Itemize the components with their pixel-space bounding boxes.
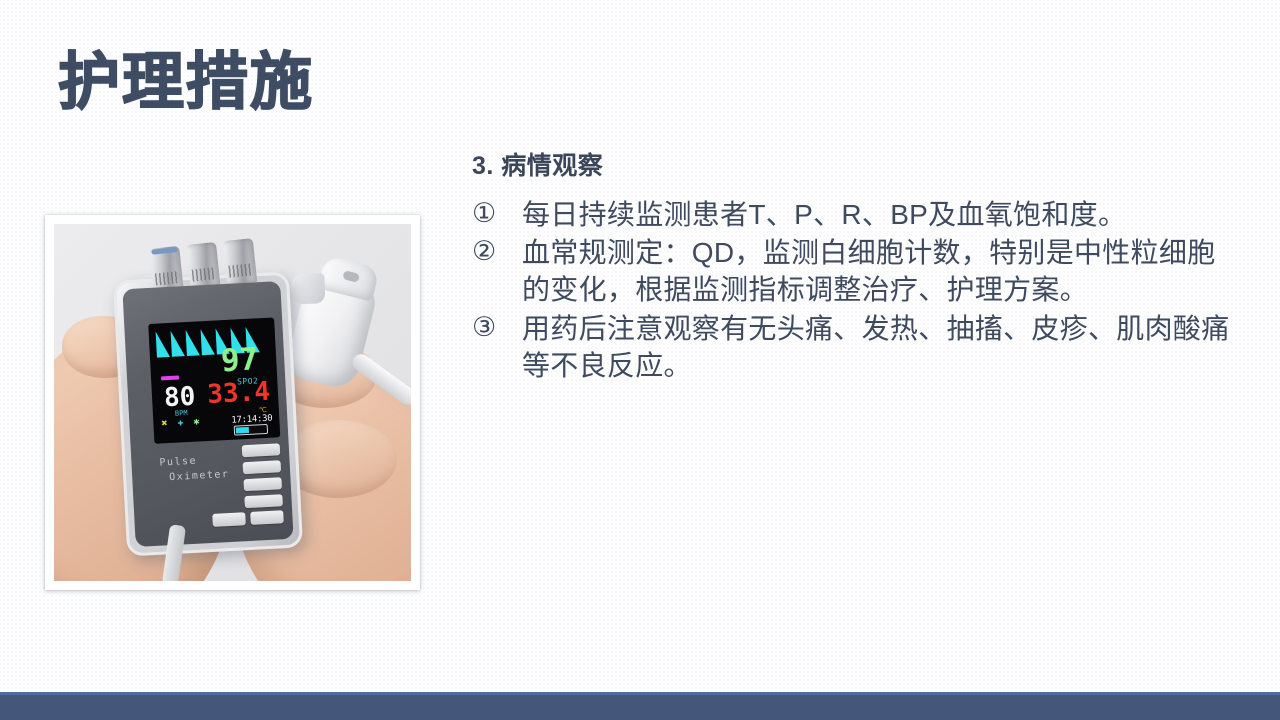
list-item-text: 血常规测定：QD，监测白细胞计数，特别是中性粒细胞的变化，根据监测指标调整治疗、…: [522, 234, 1232, 308]
slide-canvas: 护理措施: [0, 0, 1280, 720]
footer-bar: [0, 692, 1280, 720]
device-key-3: [243, 477, 282, 491]
list-marker: ②: [472, 234, 522, 308]
wave-spike: [171, 330, 185, 357]
pulse-oximeter-device: 97 SPO2 80 BPM 33.4 ℃ ✖ ✚ ✱ 17:14:30: [113, 272, 303, 557]
wave-spike: [156, 331, 170, 358]
pulse-bar-indicator: [161, 375, 179, 380]
device-keypad-bottom: [212, 510, 284, 527]
oximeter-photo: 97 SPO2 80 BPM 33.4 ℃ ✖ ✚ ✱ 17:14:30: [54, 224, 411, 581]
device-brand-label: Pulse Oximeter: [159, 452, 230, 486]
device-key-2: [243, 460, 282, 474]
device-front-panel: 97 SPO2 80 BPM 33.4 ℃ ✖ ✚ ✱ 17:14:30: [122, 281, 293, 547]
connector-cap-1: [151, 247, 177, 255]
list-item: ② 血常规测定：QD，监测白细胞计数，特别是中性粒细胞的变化，根据监测指标调整治…: [472, 234, 1232, 308]
list-item-text: 用药后注意观察有无头痛、发热、抽搐、皮疹、肌肉酸痛等不良反应。: [522, 310, 1232, 384]
screen-status-glyphs: ✖ ✚ ✱: [161, 416, 200, 429]
device-keypad: [242, 443, 283, 508]
spo2-value: 97: [220, 344, 259, 377]
wave-spike: [201, 329, 215, 356]
connector-2: [186, 242, 220, 289]
list-marker: ①: [472, 196, 522, 233]
bpm-value: 80: [163, 384, 196, 412]
page-title: 护理措施: [58, 50, 314, 117]
device-screen: 97 SPO2 80 BPM 33.4 ℃ ✖ ✚ ✱ 17:14:30: [148, 317, 280, 443]
device-key-1: [242, 443, 281, 457]
pulse-icon: ✱: [193, 416, 200, 427]
sensor-icon: ✚: [177, 417, 184, 428]
brand-line-2: Oximeter: [169, 467, 230, 485]
device-power-key: [250, 510, 284, 525]
battery-icon: [234, 424, 268, 436]
content-block: 3. 病情观察 ① 每日持续监测患者T、P、R、BP及血氧饱和度。 ② 血常规测…: [472, 146, 1232, 385]
list-marker: ③: [472, 310, 522, 384]
section-subheading: 3. 病情观察: [472, 146, 1232, 182]
list-item-text: 每日持续监测患者T、P、R、BP及血氧饱和度。: [522, 196, 1232, 233]
photo-frame: 97 SPO2 80 BPM 33.4 ℃ ✖ ✚ ✱ 17:14:30: [45, 215, 420, 590]
device-key-5: [212, 512, 246, 527]
wave-spike: [186, 329, 200, 356]
device-key-4: [244, 494, 283, 508]
temperature-value: 33.4: [207, 379, 271, 408]
list-item: ③ 用药后注意观察有无头痛、发热、抽搐、皮疹、肌肉酸痛等不良反应。: [472, 310, 1232, 384]
probe-jaw: [290, 273, 325, 304]
connector-3: [223, 238, 257, 285]
list-item: ① 每日持续监测患者T、P、R、BP及血氧饱和度。: [472, 196, 1232, 233]
alarm-mute-icon: ✖: [161, 418, 168, 429]
